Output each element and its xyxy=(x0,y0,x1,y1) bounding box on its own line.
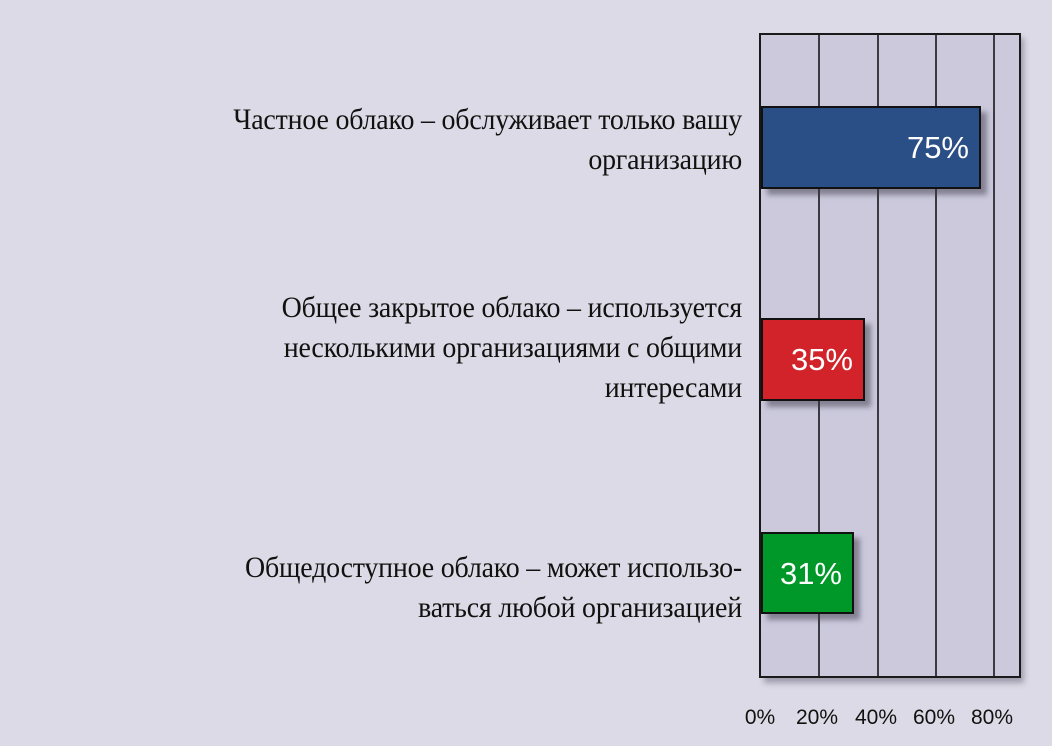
bar-value-label: 75% xyxy=(907,132,979,163)
x-tick-40: 40% xyxy=(855,706,897,730)
category-label-column: Частное облако – обслуживает только вашу… xyxy=(0,0,742,690)
bar-private-cloud[interactable]: 75% xyxy=(761,106,981,189)
category-label-private-cloud: Частное облако – обслуживает только вашу… xyxy=(52,100,742,180)
x-axis-tick-labels: 0% 20% 40% 60% 80% xyxy=(759,706,1021,740)
category-label-community-cloud: Общее закрытое облако – используется нес… xyxy=(52,288,742,408)
bar-community-cloud[interactable]: 35% xyxy=(761,318,865,401)
x-tick-80: 80% xyxy=(971,706,1013,730)
x-tick-0: 0% xyxy=(745,706,775,730)
category-label-public-cloud: Общедоступное облако – может использо- в… xyxy=(52,548,742,628)
bar-value-label: 31% xyxy=(780,558,852,589)
bar-chart: Частное облако – обслуживает только вашу… xyxy=(0,0,1052,746)
x-tick-20: 20% xyxy=(796,706,838,730)
bar-value-label: 35% xyxy=(791,344,863,375)
bar-public-cloud[interactable]: 31% xyxy=(761,532,854,614)
plot-area: 75% 35% 31% xyxy=(759,33,1021,678)
gridline-80 xyxy=(993,35,995,676)
x-tick-60: 60% xyxy=(913,706,955,730)
